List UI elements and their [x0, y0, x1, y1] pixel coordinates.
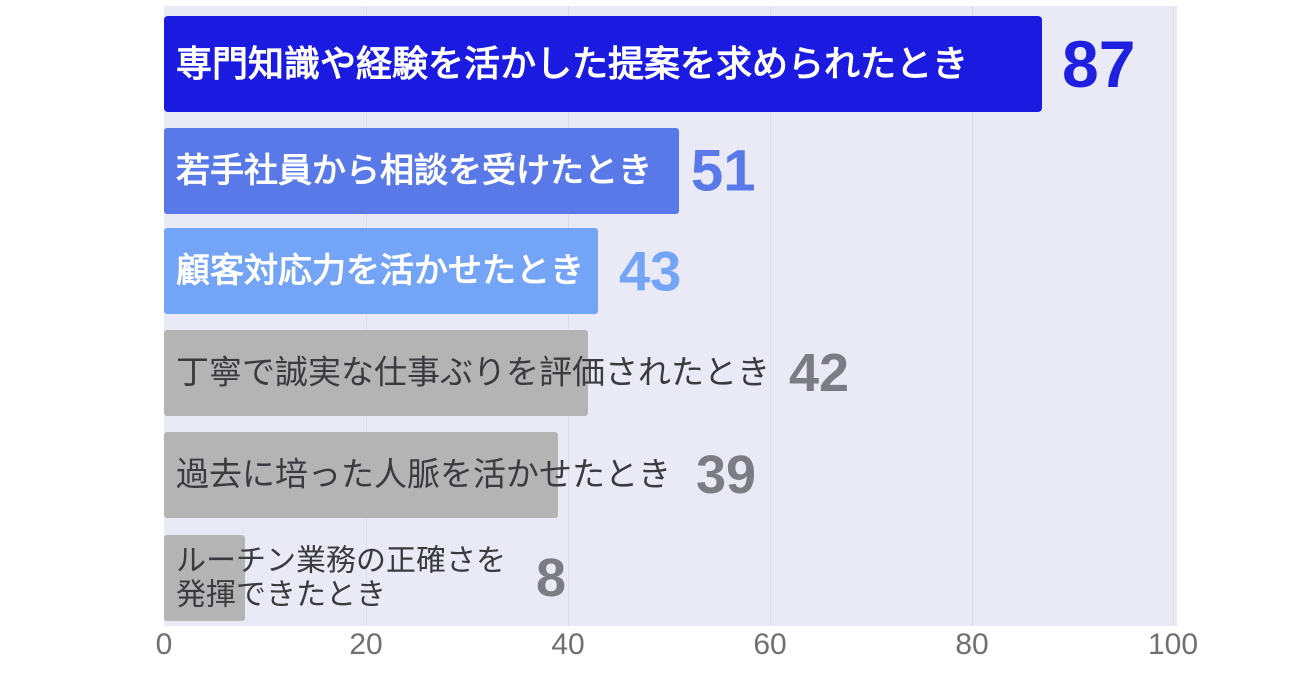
bar-4[interactable]	[164, 432, 558, 518]
x-tick-20: 20	[349, 628, 382, 662]
x-tick-60: 60	[753, 628, 786, 662]
x-tick-80: 80	[955, 628, 988, 662]
bar-2[interactable]	[164, 228, 598, 314]
bar-value-0: 87	[1062, 26, 1135, 102]
bar-row[interactable]: 顧客対応力を活かせたとき 43	[164, 228, 1177, 314]
bar-value-2: 43	[619, 239, 681, 304]
bar-value-1: 51	[691, 138, 756, 205]
bar-chart: 専門知識や経験を活かした提案を求められたとき 87 若手社員から相談を受けたとき…	[0, 0, 1300, 695]
bar-row[interactable]: ルーチン業務の正確さを 発揮できたとき 8	[164, 535, 1177, 621]
bar-row[interactable]: 若手社員から相談を受けたとき 51	[164, 128, 1177, 214]
x-tick-40: 40	[551, 628, 584, 662]
x-axis: 0 20 40 60 80 100	[0, 628, 1300, 688]
bar-0[interactable]	[164, 16, 1042, 112]
x-tick-0: 0	[156, 628, 173, 662]
bar-value-4: 39	[696, 444, 756, 506]
bar-5[interactable]	[164, 535, 245, 621]
bar-row[interactable]: 丁寧で誠実な仕事ぶりを評価されたとき 42	[164, 330, 1177, 416]
bar-3[interactable]	[164, 330, 588, 416]
bar-1[interactable]	[164, 128, 679, 214]
x-tick-100: 100	[1148, 628, 1198, 662]
bar-value-5: 8	[536, 547, 566, 609]
bar-value-3: 42	[789, 342, 849, 404]
bars-layer: 専門知識や経験を活かした提案を求められたとき 87 若手社員から相談を受けたとき…	[0, 0, 1300, 695]
bar-row[interactable]: 専門知識や経験を活かした提案を求められたとき 87	[164, 16, 1177, 112]
bar-row[interactable]: 過去に培った人脈を活かせたとき 39	[164, 432, 1177, 518]
